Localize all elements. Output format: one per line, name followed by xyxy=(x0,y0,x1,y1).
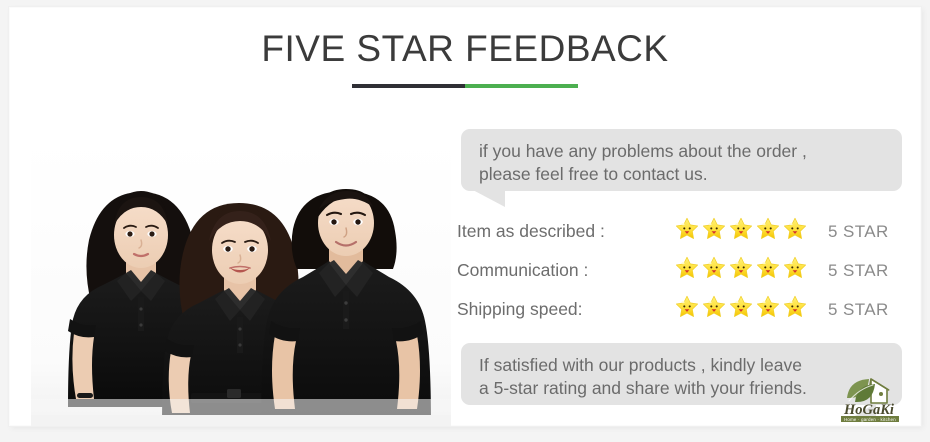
star-icon xyxy=(728,216,754,247)
brand-logo: HoGaKi Home · garden · kitchen xyxy=(825,376,913,422)
rating-label: Shipping speed: xyxy=(457,299,583,320)
rating-row: Shipping speed: 5 STAR xyxy=(452,290,907,329)
star-rating xyxy=(674,294,808,325)
star-icon xyxy=(674,216,700,247)
contact-message-bubble: if you have any problems about the order… xyxy=(461,129,902,191)
star-icon xyxy=(701,255,727,286)
rating-label: Communication : xyxy=(457,260,588,281)
feedback-card: FIVE STAR FEEDBACK xyxy=(9,7,921,426)
star-icon xyxy=(782,255,808,286)
feedback-banner: FIVE STAR FEEDBACK xyxy=(0,0,930,442)
contact-message-line-1: if you have any problems about the order… xyxy=(479,140,886,163)
contact-message-line-2: please feel free to contact us. xyxy=(479,163,886,186)
star-icon xyxy=(701,216,727,247)
title-underline xyxy=(352,84,578,88)
star-rating xyxy=(674,255,808,286)
page-title: FIVE STAR FEEDBACK xyxy=(9,28,921,70)
title-underline-green xyxy=(465,84,578,88)
star-icon xyxy=(755,216,781,247)
rating-value: 5 STAR xyxy=(828,222,889,242)
brand-tagline: Home · garden · kitchen xyxy=(844,417,896,422)
star-icon xyxy=(701,294,727,325)
star-icon xyxy=(674,255,700,286)
review-request-line-1: If satisfied with our products , kindly … xyxy=(479,354,886,377)
rating-row: Communication : 5 STAR xyxy=(452,251,907,290)
star-icon xyxy=(674,294,700,325)
rating-value: 5 STAR xyxy=(828,300,889,320)
rating-label: Item as described : xyxy=(457,221,605,242)
rating-row: Item as described : 5 STAR xyxy=(452,212,907,251)
feedback-content: if you have any problems about the order… xyxy=(452,111,907,411)
bubble-tail-icon xyxy=(471,189,505,207)
team-photo xyxy=(31,137,451,426)
star-icon xyxy=(755,255,781,286)
star-icon xyxy=(782,294,808,325)
rating-value: 5 STAR xyxy=(828,261,889,281)
star-icon xyxy=(728,255,754,286)
rating-list: Item as described : 5 STAR Communication… xyxy=(452,212,907,329)
star-icon xyxy=(755,294,781,325)
star-icon xyxy=(782,216,808,247)
star-icon xyxy=(728,294,754,325)
title-underline-dark xyxy=(352,84,465,88)
brand-wordmark: HoGaKi xyxy=(843,402,894,418)
star-rating xyxy=(674,216,808,247)
